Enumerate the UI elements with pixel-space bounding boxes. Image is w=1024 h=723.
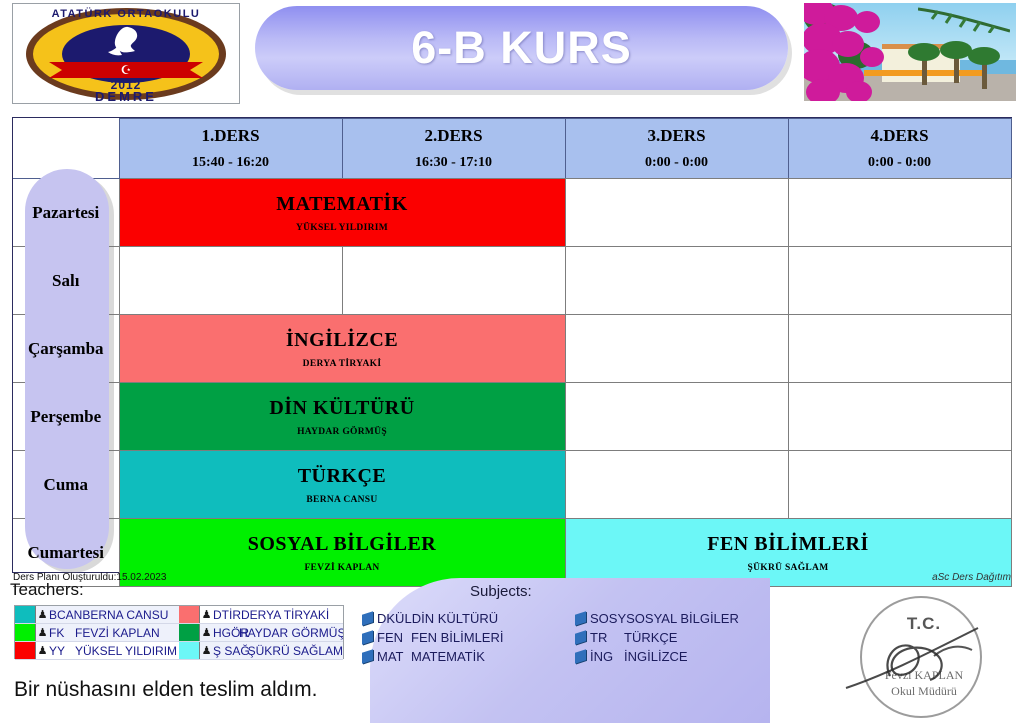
lesson-teacher: ŞÜKRÜ SAĞLAM: [566, 563, 1011, 573]
empty-lesson-cell[interactable]: [788, 247, 1011, 315]
list-item: DKÜLDİN KÜLTÜRÜ: [362, 611, 503, 626]
column-header-lesson: 2.DERS16:30 - 17:10: [342, 119, 565, 179]
subject-name: İNGİLİZCE: [624, 649, 688, 664]
lesson-cell[interactable]: MATEMATİKYÜKSEL YILDIRIM: [119, 179, 565, 247]
empty-lesson-cell[interactable]: [565, 247, 788, 315]
person-icon: ♟: [200, 608, 213, 621]
lesson-time: 15:40 - 16:20: [120, 146, 342, 178]
teacher-color-swatch: [15, 624, 36, 641]
teachers-title: Teachers:: [10, 580, 84, 600]
book-icon: [575, 611, 586, 626]
subject-name: MATEMATİK: [411, 649, 485, 664]
subject-name: FEN BİLİMLERİ: [411, 630, 503, 645]
lesson-cell[interactable]: DİN KÜLTÜRÜHAYDAR GÖRMÜŞ: [119, 383, 565, 451]
subject-name: TÜRKÇE: [624, 630, 677, 645]
book-icon: [362, 649, 373, 664]
lesson-cell[interactable]: SOSYAL BİLGİLERFEVZİ KAPLAN: [119, 519, 565, 587]
teacher-name: BERNA CANSU: [82, 608, 168, 622]
signature: [838, 602, 1010, 712]
table-row: Salı: [13, 247, 1011, 315]
teacher-color-swatch: [15, 642, 36, 659]
empty-lesson-cell[interactable]: [788, 451, 1011, 519]
timetable-body: PazartesiMATEMATİKYÜKSEL YILDIRIMSalıÇar…: [13, 179, 1011, 587]
day-label: Salı: [13, 271, 119, 291]
timetable-head: 1.DERS15:40 - 16:20 2.DERS16:30 - 17:10 …: [13, 119, 1011, 179]
day-label: Cumartesi: [13, 543, 119, 563]
logo-city: DEMRE: [13, 89, 239, 104]
timetable-table: 1.DERS15:40 - 16:20 2.DERS16:30 - 17:10 …: [13, 118, 1012, 587]
ataturk-portrait-icon: [104, 24, 148, 64]
person-icon: ♟: [36, 644, 49, 657]
teacher-name: DERYA TİRYAKİ: [241, 608, 329, 622]
lesson-subject: DİN KÜLTÜRÜ: [120, 397, 565, 420]
list-item: ♟FKFEVZİ KAPLAN: [15, 624, 179, 642]
software-label: aSc Ders Dağıtım: [932, 572, 1011, 583]
lesson-name: 1.DERS: [120, 119, 342, 146]
empty-lesson-cell[interactable]: [119, 247, 342, 315]
photo-palm-tree: [922, 55, 927, 85]
teacher-color-swatch: [15, 606, 36, 623]
day-column-pill: [25, 169, 109, 569]
subjects-column-left: DKÜLDİN KÜLTÜRÜFENFEN BİLİMLERİMATMATEMA…: [362, 611, 503, 668]
photo-bougainvillea: [804, 3, 920, 101]
teacher-code: BCAN: [49, 608, 82, 622]
title-plate: 6-B KURS: [255, 6, 788, 90]
subject-name: SOSYAL BİLGİLER: [626, 611, 739, 626]
list-item: MATMATEMATİK: [362, 649, 503, 664]
subject-code: TR: [590, 630, 624, 645]
empty-lesson-cell[interactable]: [565, 315, 788, 383]
person-icon: ♟: [200, 644, 213, 657]
teacher-name: ŞÜKRÜ SAĞLAM: [248, 644, 343, 658]
page-header: ATATÜRK ORTAOKULU ☪ 2012 DEMRE 6-B KURS: [0, 0, 1024, 112]
person-icon: ♟: [36, 626, 49, 639]
teacher-code: DTİR: [213, 608, 241, 622]
crescent-star-icon: ☪: [121, 64, 132, 76]
lesson-teacher: BERNA CANSU: [120, 495, 565, 505]
photo-palm-tree: [954, 53, 959, 83]
empty-lesson-cell[interactable]: [788, 179, 1011, 247]
teacher-color-swatch: [179, 642, 200, 659]
header-row-lesson-names: 1.DERS15:40 - 16:20 2.DERS16:30 - 17:10 …: [13, 119, 1011, 179]
subject-code: FEN: [377, 630, 411, 645]
school-logo: ATATÜRK ORTAOKULU ☪ 2012 DEMRE: [12, 3, 240, 104]
lesson-time: 0:00 - 0:00: [789, 146, 1011, 178]
column-header-lesson: 3.DERS0:00 - 0:00: [565, 119, 788, 179]
lesson-teacher: HAYDAR GÖRMÜŞ: [120, 427, 565, 437]
list-item: ♟YYYÜKSEL YILDIRIM: [15, 642, 179, 660]
day-label: Perşembe: [13, 407, 119, 427]
photo-palm-tree: [982, 59, 987, 89]
list-item: FENFEN BİLİMLERİ: [362, 630, 503, 645]
page-title: 6-B KURS: [411, 22, 632, 74]
subject-code: DKÜL: [377, 611, 412, 626]
teacher-color-swatch: [179, 624, 200, 641]
lesson-subject: SOSYAL BİLGİLER: [120, 533, 565, 556]
subject-code: SOSY: [590, 611, 626, 626]
table-row: ÇarşambaİNGİLİZCEDERYA TİRYAKİ: [13, 315, 1011, 383]
list-item: ♟BCANBERNA CANSU: [15, 606, 179, 624]
lesson-subject: MATEMATİK: [120, 193, 565, 216]
lesson-name: 2.DERS: [343, 119, 565, 146]
person-icon: ♟: [200, 626, 213, 639]
list-item: İNGİNGİLİZCE: [575, 649, 739, 664]
subject-name: DİN KÜLTÜRÜ: [412, 611, 498, 626]
teacher-name: YÜKSEL YILDIRIM: [75, 644, 177, 658]
column-header-lesson: 4.DERS0:00 - 0:00: [788, 119, 1011, 179]
empty-lesson-cell[interactable]: [565, 383, 788, 451]
day-label: Pazartesi: [13, 203, 119, 223]
book-icon: [362, 630, 373, 645]
subject-code: İNG: [590, 649, 624, 664]
day-label: Çarşamba: [13, 339, 119, 359]
day-label: Cuma: [13, 475, 119, 495]
school-photo: [804, 3, 1016, 101]
subjects-title: Subjects:: [470, 583, 532, 600]
table-row: PazartesiMATEMATİKYÜKSEL YILDIRIM: [13, 179, 1011, 247]
lesson-teacher: FEVZİ KAPLAN: [120, 563, 565, 573]
empty-lesson-cell[interactable]: [565, 451, 788, 519]
book-icon: [575, 630, 586, 645]
person-icon: ♟: [36, 608, 49, 621]
lesson-cell[interactable]: TÜRKÇEBERNA CANSU: [119, 451, 565, 519]
empty-lesson-cell[interactable]: [565, 179, 788, 247]
teacher-code: FK: [49, 626, 75, 640]
lesson-teacher: YÜKSEL YILDIRIM: [120, 223, 565, 233]
table-row: PerşembeDİN KÜLTÜRÜHAYDAR GÖRMÜŞ: [13, 383, 1011, 451]
list-item: ♟HGÖRHAYDAR GÖRMÜŞ: [179, 624, 343, 642]
column-header-lesson: 1.DERS15:40 - 16:20: [119, 119, 342, 179]
official-stamp: T.C. Fevzi KAPLAN Okul Müdürü: [838, 592, 1010, 720]
lesson-time: 0:00 - 0:00: [566, 146, 788, 178]
lesson-subject: TÜRKÇE: [120, 465, 565, 488]
subject-code: MAT: [377, 649, 411, 664]
teacher-name: HAYDAR GÖRMÜŞ: [239, 626, 343, 640]
teacher-code: Ş SAĞ: [213, 644, 248, 658]
teachers-legend: ♟BCANBERNA CANSU♟DTİRDERYA TİRYAKİ♟FKFEV…: [14, 605, 344, 659]
empty-lesson-cell[interactable]: [788, 383, 1011, 451]
book-icon: [575, 649, 586, 664]
list-item: ♟DTİRDERYA TİRYAKİ: [179, 606, 343, 624]
lesson-name: 4.DERS: [789, 119, 1011, 146]
teacher-color-swatch: [179, 606, 200, 623]
list-item: ♟Ş SAĞŞÜKRÜ SAĞLAM: [179, 642, 343, 660]
logo-school-name: ATATÜRK ORTAOKULU: [13, 8, 239, 20]
teacher-code: HGÖR: [213, 626, 239, 640]
timetable: 1.DERS15:40 - 16:20 2.DERS16:30 - 17:10 …: [12, 117, 1012, 573]
lesson-cell[interactable]: İNGİLİZCEDERYA TİRYAKİ: [119, 315, 565, 383]
lesson-subject: FEN BİLİMLERİ: [566, 533, 1011, 556]
book-icon: [362, 611, 373, 626]
teacher-code: YY: [49, 644, 75, 658]
list-item: SOSYSOSYAL BİLGİLER: [575, 611, 739, 626]
lesson-name: 3.DERS: [566, 119, 788, 146]
receipt-text: Bir nüshasını elden teslim aldım.: [14, 678, 317, 702]
subjects-column-right: SOSYSOSYAL BİLGİLERTRTÜRKÇEİNGİNGİLİZCE: [575, 611, 739, 668]
empty-lesson-cell[interactable]: [342, 247, 565, 315]
list-item: TRTÜRKÇE: [575, 630, 739, 645]
table-row: CumaTÜRKÇEBERNA CANSU: [13, 451, 1011, 519]
lesson-time: 16:30 - 17:10: [343, 146, 565, 178]
lesson-teacher: DERYA TİRYAKİ: [120, 359, 565, 369]
empty-lesson-cell[interactable]: [788, 315, 1011, 383]
lesson-subject: İNGİLİZCE: [120, 329, 565, 352]
teacher-name: FEVZİ KAPLAN: [75, 626, 160, 640]
photo-tree-branch: [918, 7, 1010, 33]
